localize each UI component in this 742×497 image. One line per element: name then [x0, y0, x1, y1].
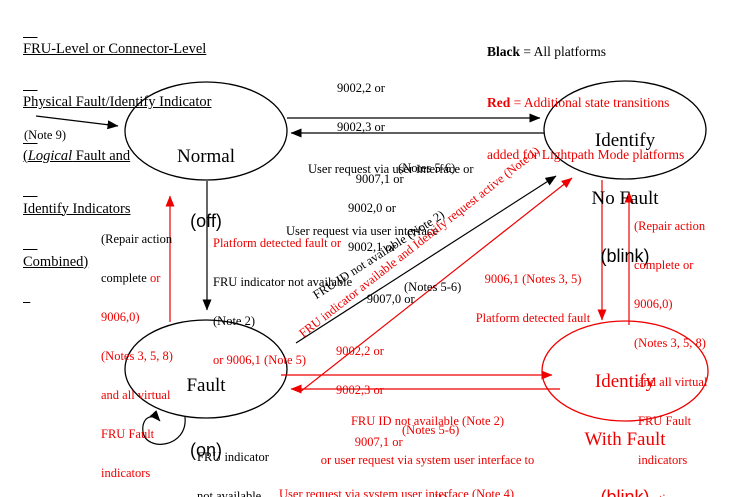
- ftn-line-6: FRU Fault: [101, 428, 211, 441]
- ftw-line-1: 9002,2 or: [280, 345, 440, 358]
- ftn-line-3: 9006,0): [101, 311, 211, 324]
- state-diagram-canvas: FRU-Level or Connector-Level Physical Fa…: [0, 0, 742, 497]
- ftn-line-2-red: or: [150, 271, 160, 285]
- wtf-line-3: remove ID or: [284, 493, 571, 497]
- nti-line-1: 9002,2 or: [286, 82, 436, 95]
- entry-note-label: (Note 9): [24, 129, 66, 142]
- state-inf-line-1: Identify: [558, 130, 692, 152]
- transition-label-fault-to-normal: (Repair action complete or 9006,0) (Note…: [101, 207, 211, 497]
- wti-line-3: 9006,0): [634, 298, 742, 311]
- wtf-line-1: FRU ID not available (Note 2): [284, 415, 571, 428]
- ftn-line-5: and all virtual: [101, 389, 211, 402]
- wti-line-7: indicators: [634, 454, 742, 467]
- title-line-1: FRU-Level or Connector-Level: [23, 41, 283, 59]
- title-line-3-emphasis: Logical: [28, 148, 72, 164]
- wti-line-2: complete or: [634, 259, 742, 272]
- fsl-line-2: not available: [197, 490, 327, 497]
- state-normal-name: Normal: [146, 146, 266, 168]
- wti-line-4: (Notes 3, 5, 8): [634, 337, 742, 350]
- transition-label-fault-self-loop: FRU indicator not available (Note 1): [197, 425, 327, 497]
- transition-label-identify-with-fault-to-fault: FRU ID not available (Note 2) or user re…: [284, 389, 571, 497]
- wti-line-1: (Repair action: [634, 220, 742, 233]
- ftn-line-4: (Notes 3, 5, 8): [101, 350, 211, 363]
- title-line-3-post: Fault and: [72, 148, 130, 164]
- transition-label-identify-with-fault-to-identify-no-fault: (Repair action complete or 9006,0) (Note…: [634, 194, 742, 497]
- wti-line-6: FRU Fault: [634, 415, 742, 428]
- ftn-line-2: complete or: [101, 272, 211, 285]
- fsl-line-1: FRU indicator: [197, 451, 327, 464]
- nti-line-2: 9002,3 or: [286, 121, 436, 134]
- wtf-line-2: or user request via system user interfac…: [284, 454, 571, 467]
- itw-line-1: 9006,1 (Notes 3, 5): [463, 273, 603, 286]
- wti-line-5: and all virtual: [634, 376, 742, 389]
- wti-line-8: inactive: [634, 493, 742, 497]
- ftn-line-1: (Repair action: [101, 233, 211, 246]
- ftn-line-2-black: complete: [101, 271, 150, 285]
- itn-notes: (Notes 5-6): [404, 281, 461, 294]
- ftn-line-7: indicators: [101, 467, 211, 480]
